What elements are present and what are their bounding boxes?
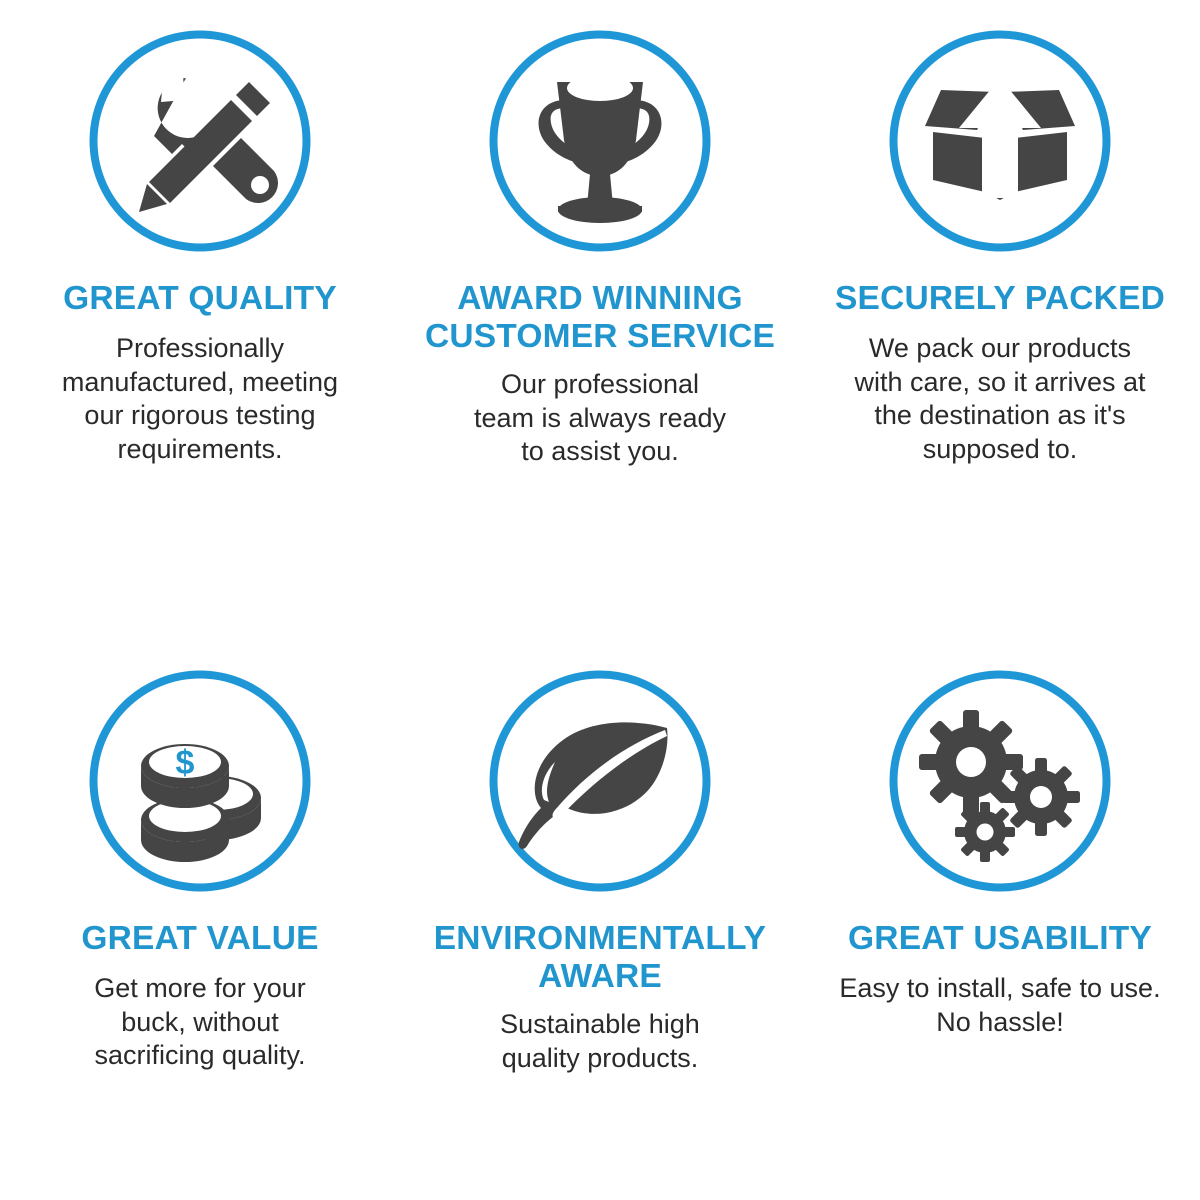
feature-grid-page: GREAT QUALITY Professionally manufacture… <box>0 0 1200 1200</box>
feature-card-great-value: $ GREAT VALUE Get more for your buck, wi… <box>0 600 400 1200</box>
badge-great-value: $ <box>89 670 311 892</box>
wrench-pencil-icon <box>89 30 311 252</box>
feature-body: Professionally manufactured, meeting our… <box>62 332 338 466</box>
feature-body: Our professional team is always ready to… <box>474 368 726 469</box>
feature-heading: ENVIRONMENTALLY AWARE <box>434 920 766 996</box>
feature-body: Easy to install, safe to use. No hassle! <box>839 972 1160 1039</box>
feature-heading: GREAT VALUE <box>81 920 318 958</box>
trophy-icon <box>489 30 711 252</box>
feature-heading: GREAT QUALITY <box>63 280 337 318</box>
feature-card-securely-packed: SECURELY PACKED We pack our products wit… <box>800 0 1200 600</box>
feature-body: Sustainable high quality products. <box>500 1008 700 1075</box>
badge-great-usability <box>889 670 1111 892</box>
badge-environmentally-aware <box>489 670 711 892</box>
badge-securely-packed <box>889 30 1111 252</box>
coins-dollar-icon: $ <box>89 670 311 892</box>
feature-body: Get more for your buck, without sacrific… <box>94 972 306 1073</box>
dollar-sign-glyph: $ <box>176 744 195 782</box>
feature-card-environmentally-aware: ENVIRONMENTALLY AWARE Sustainable high q… <box>400 600 800 1200</box>
feature-heading: GREAT USABILITY <box>848 920 1152 958</box>
feature-heading: SECURELY PACKED <box>835 280 1165 318</box>
feature-body: We pack our products with care, so it ar… <box>854 332 1145 466</box>
gears-icon <box>889 670 1111 892</box>
feature-card-award-winning-customer-service: AWARD WINNING CUSTOMER SERVICE Our profe… <box>400 0 800 600</box>
open-box-arrow-icon <box>889 30 1111 252</box>
feature-card-great-quality: GREAT QUALITY Professionally manufacture… <box>0 0 400 600</box>
badge-award-winning <box>489 30 711 252</box>
feature-card-great-usability: GREAT USABILITY Easy to install, safe to… <box>800 600 1200 1200</box>
leaf-icon <box>489 670 711 892</box>
badge-great-quality <box>89 30 311 252</box>
feature-grid: GREAT QUALITY Professionally manufacture… <box>0 0 1200 1200</box>
feature-heading: AWARD WINNING CUSTOMER SERVICE <box>425 280 775 356</box>
